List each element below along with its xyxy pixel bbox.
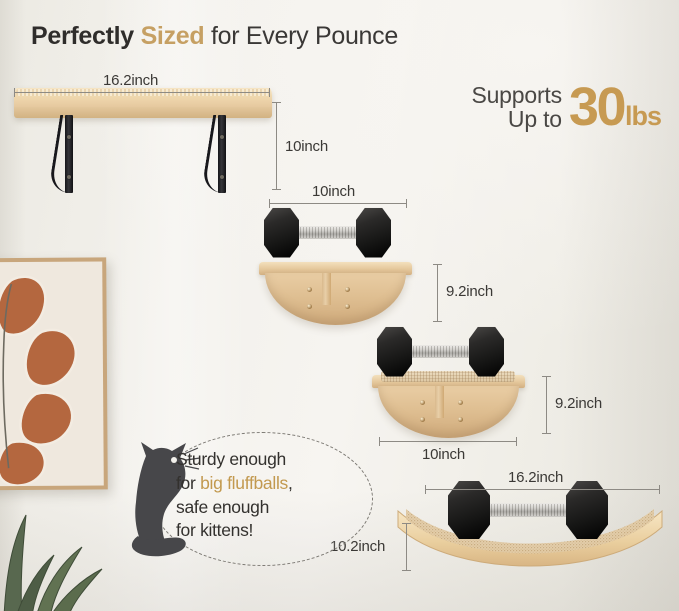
dumbbell-icon [448,503,608,517]
title-part-2: for Every Pounce [204,22,398,50]
dimension-label-mid1-width: 10inch [312,183,355,200]
page-title: Perfectly Sized for Every Pounce [31,22,398,51]
shelf-bracket-left [54,115,84,193]
dumbbell-icon [377,345,504,358]
dimension-label-top-depth: 10inch [285,138,328,155]
callout-highlight: big fluffballs [200,473,288,493]
supports-capacity: 30lbs [569,84,661,132]
shelf-mid-2-bowl [378,386,519,438]
supports-number: 30 [569,84,624,132]
supports-words: Supports Up to [471,84,561,132]
supports-unit: lbs [625,105,661,129]
dimension-line-bottom-depth [406,523,407,571]
dimension-label-mid2-depth: 9.2inch [555,395,602,412]
callout-text: Sturdy enough for big fluffballs, safe e… [176,448,366,543]
title-part-1: Perfectly [31,22,141,50]
dimension-line-mid1-width [269,203,407,204]
dimension-line-top-width [14,92,270,93]
callout-line-1: Sturdy enough [176,448,366,472]
dimension-line-bottom-width [425,489,660,490]
shelf-top-long [14,88,272,193]
shelf-mid-1 [259,262,412,325]
shelf-mid-1-bowl [265,273,406,325]
dimension-label-top-width: 16.2inch [103,72,158,89]
callout-line-2: for big fluffballs, [176,472,366,496]
shelf-mid-2 [372,375,525,438]
dimension-line-mid2-depth [546,376,547,434]
shelf-bracket-right [207,115,237,193]
supports-badge: Supports Up to 30lbs [471,84,661,132]
dimension-label-bottom-width: 16.2inch [508,469,563,486]
supports-line-1: Supports [471,84,561,108]
framed-art-icon [0,257,108,490]
supports-line-2: Up to [471,108,561,132]
dimension-line-mid1-depth [437,264,438,322]
botanical-print-graphic [0,261,104,486]
product-infographic: Perfectly Sized for Every Pounce Support… [0,0,679,611]
dimension-label-mid2-width: 10inch [422,446,465,463]
callout-line-4: for kittens! [176,519,366,543]
dumbbell-icon [264,226,391,239]
title-highlight: Sized [141,22,205,50]
dimension-line-top-depth [276,102,277,190]
dimension-label-mid1-depth: 9.2inch [446,283,493,300]
callout-line-3: safe enough [176,496,366,520]
dimension-line-mid2-width [379,441,517,442]
